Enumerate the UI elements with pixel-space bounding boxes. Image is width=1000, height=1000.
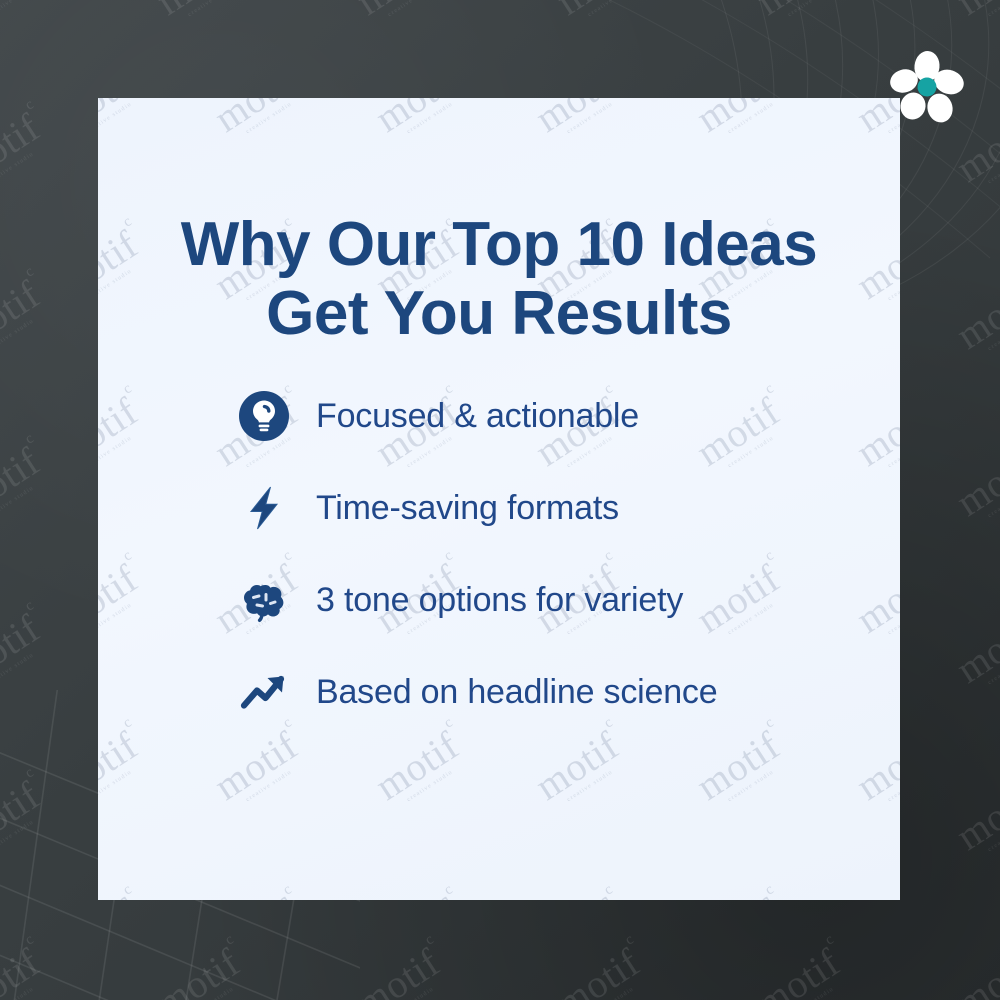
watermark-word: motifc <box>950 775 1000 857</box>
watermark-word: motifc <box>150 0 247 22</box>
watermark-tile: motifccreative studio <box>100 0 300 67</box>
watermark-subtext: creative studio <box>972 642 1000 696</box>
watermark-mark: motifccreative studio <box>950 441 1000 529</box>
watermark-subtext: creative studio <box>0 475 50 529</box>
watermark-mark: motifccreative studio <box>0 775 50 863</box>
watermark-subtext: creative studio <box>172 0 250 27</box>
watermark-tile: motifccreative studio <box>500 902 700 1000</box>
watermark-tile: motifccreative studio <box>0 0 100 67</box>
watermark-tile: motifccreative studio <box>900 902 1000 1000</box>
watermark-mark: motifccreative studio <box>950 942 1000 1000</box>
watermark-word: motifc <box>750 942 847 1000</box>
watermark-subtext: creative studio <box>0 308 50 362</box>
watermark-subtext: creative studio <box>372 0 450 27</box>
watermark-word: motifc <box>0 107 46 189</box>
watermark-tile: motifccreative studio <box>0 735 100 902</box>
watermark-mark: motifccreative studio <box>150 0 250 27</box>
watermark-word: motifc <box>550 0 647 22</box>
list-item: Time-saving formats <box>236 462 870 554</box>
list-item: 3 tone options for variety <box>236 554 870 646</box>
watermark-word: motifc <box>350 942 447 1000</box>
watermark-tile: motifccreative studio <box>500 0 700 67</box>
watermark-subtext: creative studio <box>572 0 650 27</box>
watermark-subtext: creative studio <box>0 141 50 195</box>
watermark-mark: motifccreative studio <box>950 274 1000 362</box>
watermark-mark: motifccreative studio <box>0 942 50 1000</box>
watermark-mark: motifccreative studio <box>0 107 50 195</box>
watermark-word: motifc <box>0 0 46 22</box>
benefits-list: Focused & actionable Time-saving formats <box>236 370 870 738</box>
watermark-mark: motifccreative studio <box>350 0 450 27</box>
watermark-word: motifc <box>950 441 1000 523</box>
watermark-superscript: c <box>23 932 37 948</box>
watermark-superscript: c <box>23 264 37 280</box>
watermark-tile: motifccreative studio <box>300 902 500 1000</box>
watermark-superscript: c <box>823 932 837 948</box>
list-item-label: Focused & actionable <box>316 397 639 436</box>
watermark-mark: motifccreative studio <box>550 942 650 1000</box>
watermark-superscript: c <box>23 97 37 113</box>
watermark-word: motifc <box>950 0 1000 22</box>
watermark-subtext: creative studio <box>972 976 1000 1000</box>
watermark-subtext: creative studio <box>772 976 850 1000</box>
watermark-subtext: creative studio <box>972 0 1000 27</box>
watermark-subtext: creative studio <box>0 642 50 696</box>
watermark-word: motifc <box>750 0 847 22</box>
watermark-subtext: creative studio <box>372 976 450 1000</box>
watermark-word: motifc <box>0 608 46 690</box>
watermark-mark: motifccreative studio <box>0 274 50 362</box>
lightning-bolt-icon <box>236 480 292 536</box>
watermark-subtext: creative studio <box>0 976 50 1000</box>
watermark-word: motifc <box>950 942 1000 1000</box>
watermark-mark: motifccreative studio <box>950 608 1000 696</box>
watermark-mark: motifccreative studio <box>350 942 450 1000</box>
watermark-mark: motifccreative studio <box>0 0 50 27</box>
watermark-tile: motifccreative studio <box>300 0 500 67</box>
watermark-subtext: creative studio <box>972 308 1000 362</box>
watermark-superscript: c <box>23 431 37 447</box>
page-title: Why Our Top 10 Ideas Get You Results <box>98 210 900 349</box>
trending-up-icon <box>236 664 292 720</box>
watermark-tile: motifccreative studio <box>0 401 100 568</box>
watermark-superscript: c <box>623 932 637 948</box>
watermark-word: motifc <box>0 441 46 523</box>
watermark-tile: motifccreative studio <box>700 0 900 67</box>
watermark-word: motifc <box>950 274 1000 356</box>
lightbulb-icon <box>236 388 292 444</box>
watermark-superscript: c <box>423 932 437 948</box>
watermark-mark: motifccreative studio <box>750 0 850 27</box>
watermark-superscript: c <box>23 765 37 781</box>
watermark-subtext: creative studio <box>972 141 1000 195</box>
watermark-superscript: c <box>223 932 237 948</box>
poster-canvas: motifccreative studiomotifccreative stud… <box>0 0 1000 1000</box>
watermark-mark: motifccreative studio <box>950 775 1000 863</box>
headline-line-1: Why Our Top 10 Ideas <box>98 210 900 279</box>
content-card: motifccreative studiomotifccreative stud… <box>98 98 900 900</box>
brain-icon <box>236 572 292 628</box>
watermark-word: motifc <box>350 0 447 22</box>
headline-line-2: Get You Results <box>98 279 900 348</box>
watermark-mark: motifccreative studio <box>550 0 650 27</box>
watermark-tile: motifccreative studio <box>700 902 900 1000</box>
watermark-word: motifc <box>0 942 46 1000</box>
watermark-tile: motifccreative studio <box>0 67 100 234</box>
watermark-subtext: creative studio <box>972 475 1000 529</box>
flower-logo[interactable] <box>888 48 966 126</box>
watermark-tile: motifccreative studio <box>900 234 1000 401</box>
list-item-label: Time-saving formats <box>316 489 619 528</box>
watermark-tile: motifccreative studio <box>900 735 1000 902</box>
watermark-tile: motifccreative studio <box>900 568 1000 735</box>
watermark-subtext: creative studio <box>972 809 1000 863</box>
watermark-mark: motifccreative studio <box>0 441 50 529</box>
watermark-word: motifc <box>950 608 1000 690</box>
watermark-mark: motifccreative studio <box>950 0 1000 27</box>
list-item: Based on headline science <box>236 646 870 738</box>
list-item-label: Based on headline science <box>316 673 717 712</box>
watermark-tile: motifccreative studio <box>0 234 100 401</box>
watermark-subtext: creative studio <box>772 0 850 27</box>
watermark-tile: motifccreative studio <box>0 902 100 1000</box>
watermark-subtext: creative studio <box>0 809 50 863</box>
list-item: Focused & actionable <box>236 370 870 462</box>
watermark-word: motifc <box>550 942 647 1000</box>
watermark-mark: motifccreative studio <box>150 942 250 1000</box>
watermark-mark: motifccreative studio <box>750 942 850 1000</box>
watermark-tile: motifccreative studio <box>0 568 100 735</box>
watermark-mark: motifccreative studio <box>0 608 50 696</box>
watermark-word: motifc <box>150 942 247 1000</box>
watermark-word: motifc <box>0 274 46 356</box>
watermark-tile: motifccreative studio <box>100 902 300 1000</box>
watermark-subtext: creative studio <box>572 976 650 1000</box>
watermark-subtext: creative studio <box>172 976 250 1000</box>
watermark-tile: motifccreative studio <box>900 401 1000 568</box>
watermark-superscript: c <box>23 598 37 614</box>
list-item-label: 3 tone options for variety <box>316 581 683 620</box>
flower-center <box>918 78 937 97</box>
watermark-word: motifc <box>0 775 46 857</box>
watermark-subtext: creative studio <box>0 0 50 27</box>
